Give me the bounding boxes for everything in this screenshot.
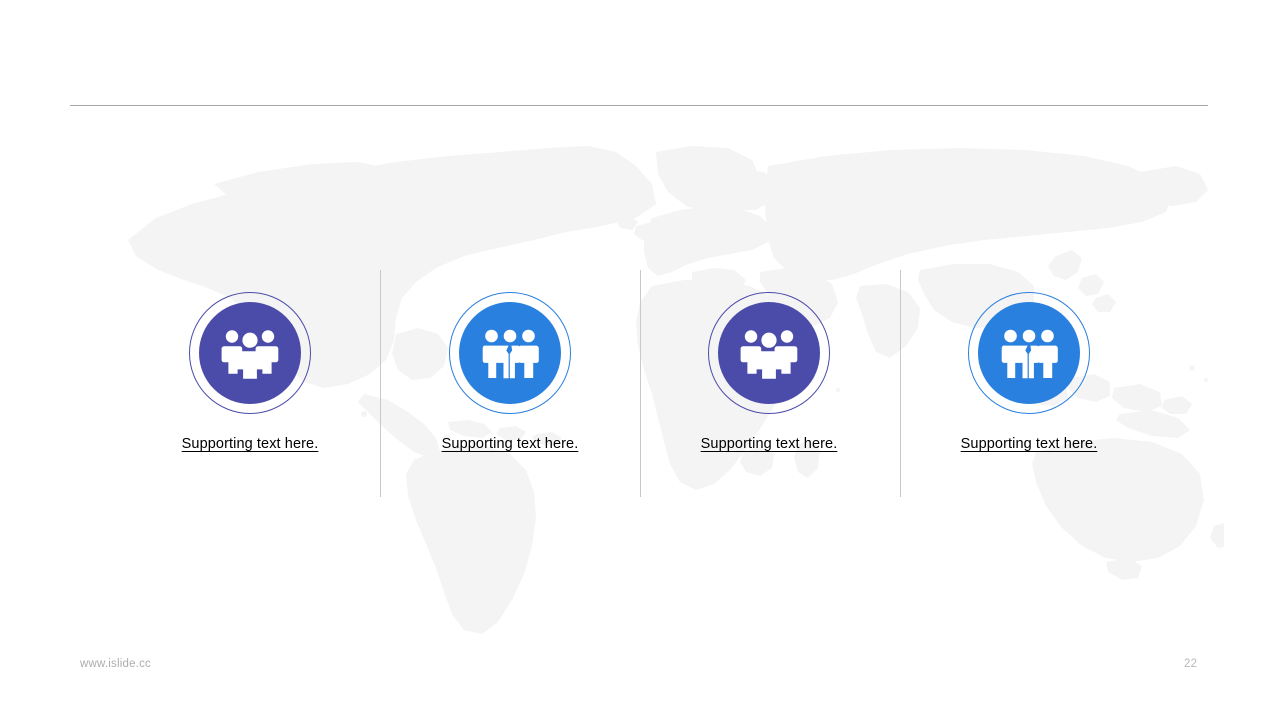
header-divider-rule (70, 105, 1208, 106)
people-group-icon (220, 327, 280, 379)
info-column-4[interactable]: Supporting text here. (919, 292, 1139, 453)
info-column-1[interactable]: Supporting text here. (140, 292, 360, 453)
supporting-text-label[interactable]: Supporting text here. (961, 435, 1098, 453)
footer-website-url[interactable]: www.islide.cc (80, 658, 151, 670)
column-divider-1 (380, 270, 381, 497)
info-column-3[interactable]: Supporting text here. (659, 292, 879, 453)
people-group-badge-2[interactable] (449, 292, 571, 414)
people-group-icon (739, 327, 799, 379)
people-group-badge-1[interactable] (189, 292, 311, 414)
column-divider-2 (640, 270, 641, 497)
footer-page-number: 22 (1184, 658, 1197, 670)
people-group-badge-4[interactable] (968, 292, 1090, 414)
column-divider-3 (900, 270, 901, 497)
people-group-icon (999, 327, 1059, 379)
info-column-2[interactable]: Supporting text here. (400, 292, 620, 453)
slide-canvas: Supporting text here. Su (0, 0, 1280, 720)
supporting-text-label[interactable]: Supporting text here. (701, 435, 838, 453)
people-group-badge-3[interactable] (708, 292, 830, 414)
supporting-text-label[interactable]: Supporting text here. (182, 435, 319, 453)
people-group-icon (480, 327, 540, 379)
supporting-text-label[interactable]: Supporting text here. (442, 435, 579, 453)
